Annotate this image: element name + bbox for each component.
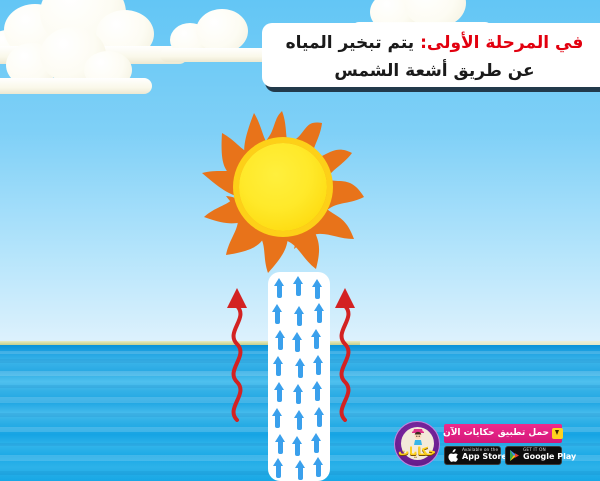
app-promo-badge[interactable]: حمل تطبيق حكايات الآن Available on the A… [396, 419, 562, 469]
google-play-text: GET IT ON Google Play [523, 449, 576, 461]
store-buttons[interactable]: Available on the App Store GET IT ON Goo… [444, 446, 562, 465]
app-store-big: App Store [462, 453, 507, 461]
cloud-left-lower [0, 44, 152, 94]
caption-line-2: عن طريق أشعة الشمس [278, 57, 591, 85]
promo-left: حمل تطبيق حكايات الآن Available on the A… [444, 424, 562, 465]
caption-line-1: في المرحلة الأولى: يتم تبخير المياه [278, 29, 591, 57]
caption-stage-label: في المرحلة الأولى: [420, 33, 583, 53]
app-store-text: Available on the App Store [462, 449, 507, 461]
caption-box: في المرحلة الأولى: يتم تبخير المياه عن ط… [262, 23, 600, 87]
sun-core [239, 143, 327, 231]
illustration-water-cycle-stage-1: في المرحلة الأولى: يتم تبخير المياه عن ط… [0, 0, 600, 481]
app-store-button[interactable]: Available on the App Store [444, 446, 501, 465]
play-triangle-icon [509, 449, 520, 462]
evaporation-column [268, 272, 330, 481]
caption-line-1-text: يتم تبخير المياه [286, 33, 415, 53]
apple-icon [448, 449, 459, 462]
logo-text: حكايات [395, 445, 439, 458]
character-icon [410, 427, 426, 445]
google-play-button[interactable]: GET IT ON Google Play [505, 446, 562, 465]
heat-wave-arrow-left [222, 282, 252, 422]
heat-wave-arrow-right [330, 282, 360, 422]
promo-headline-band: حمل تطبيق حكايات الآن [444, 424, 562, 443]
download-icon [552, 428, 563, 439]
sun [196, 103, 368, 275]
hekayat-logo[interactable]: حكايات [394, 421, 440, 467]
google-play-big: Google Play [523, 453, 576, 461]
cloud-middle-small [160, 20, 270, 62]
promo-headline: حمل تطبيق حكايات الآن [443, 428, 549, 438]
